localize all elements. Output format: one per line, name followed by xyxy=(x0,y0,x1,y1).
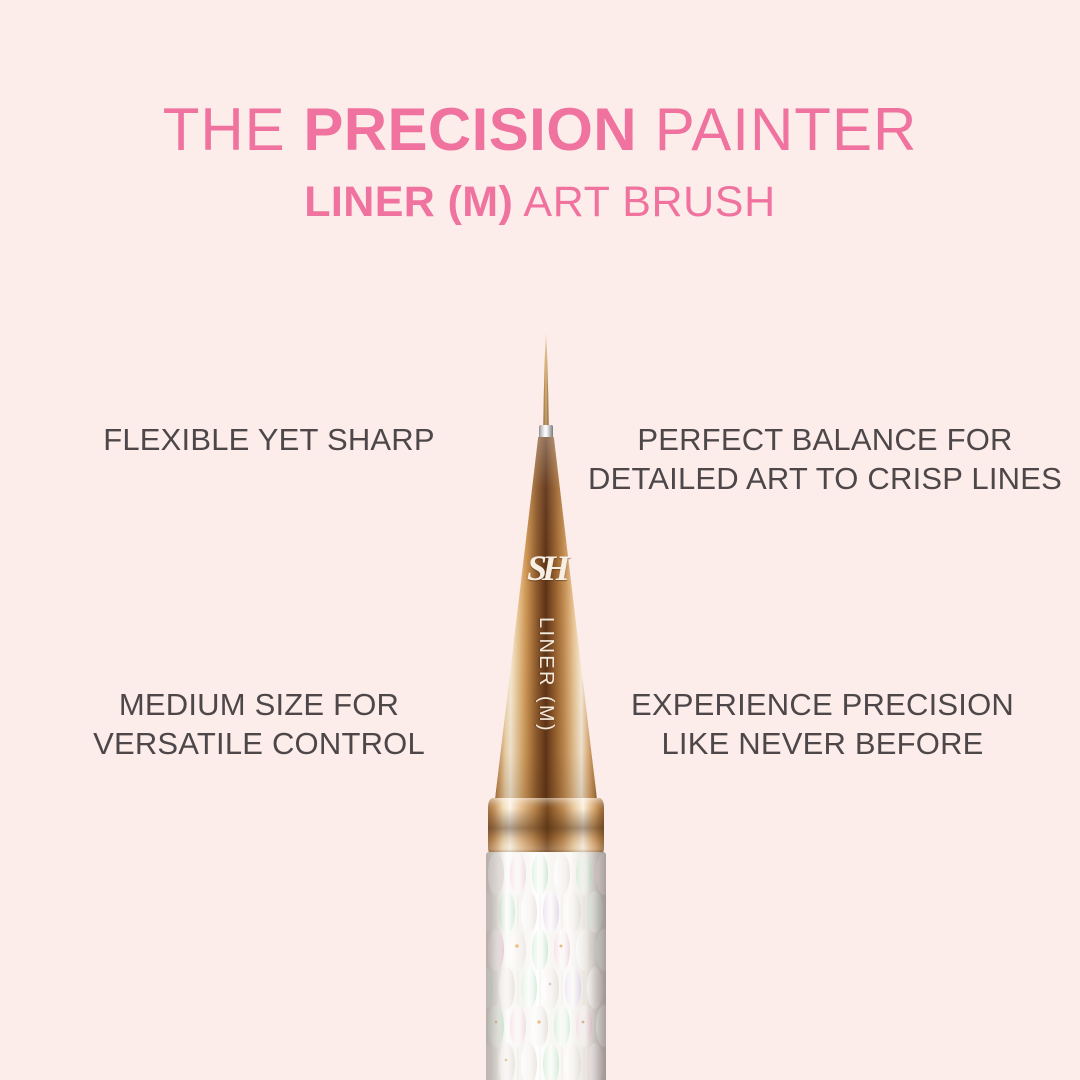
feature-caption-medium-size: MEDIUM SIZE FOR VERSATILE CONTROL xyxy=(24,685,494,763)
headline-product-variant: LINER (M) xyxy=(304,178,513,226)
feature-caption-perfect-balance: PERFECT BALANCE FOR DETAILED ART TO CRIS… xyxy=(580,420,1070,498)
brush-ferrule-engraving-label: LINER (M) xyxy=(531,615,561,735)
handle-facet-pattern-icon xyxy=(486,852,606,1080)
product-feature-graphic: THE PRECISION PAINTER LINER (M) ART BRUS… xyxy=(0,0,1080,1080)
headline-secondary: LINER (M) ART BRUSH xyxy=(0,178,1080,226)
feature-caption-experience-precision: EXPERIENCE PRECISION LIKE NEVER BEFORE xyxy=(600,685,1045,763)
headline-emphasis: PRECISION xyxy=(303,96,637,163)
headline-product-type: ART BRUSH xyxy=(513,178,776,226)
feature-caption-flexible-yet-sharp: FLEXIBLE YET SHARP xyxy=(34,420,504,459)
brush-iridescent-handle xyxy=(486,852,606,1080)
headline-prefix: THE xyxy=(163,96,304,163)
brush-bristle-shading xyxy=(542,333,550,433)
brush-collar-shading xyxy=(488,798,604,856)
headline-suffix: PAINTER xyxy=(637,96,917,163)
headline-primary: THE PRECISION PAINTER xyxy=(0,98,1080,162)
brand-monogram-icon: SH xyxy=(524,544,568,592)
